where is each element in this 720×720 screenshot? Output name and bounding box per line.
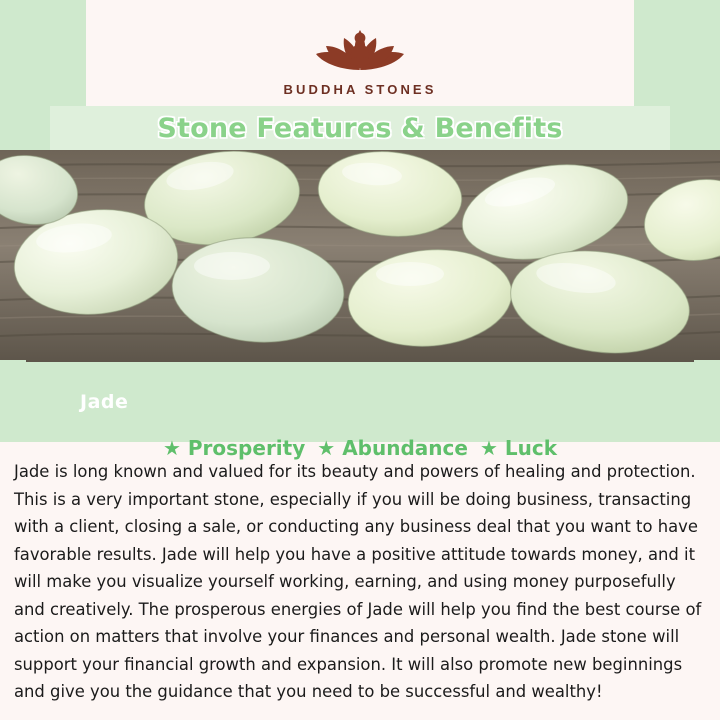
brand-header: BUDDHA STONES: [0, 0, 720, 112]
keyword-label: Abundance: [342, 436, 468, 460]
keyword-abundance: ★ Abundance: [317, 436, 468, 460]
star-icon: ★: [163, 438, 181, 458]
star-icon: ★: [480, 438, 498, 458]
brand-name: BUDDHA STONES: [284, 82, 437, 97]
keyword-luck: ★ Luck: [480, 436, 557, 460]
stone-name-label: Jade: [80, 391, 128, 413]
keyword-label: Luck: [505, 436, 557, 460]
lotus-meditation-icon: [298, 16, 422, 80]
page-title: Stone Features & Benefits: [157, 113, 562, 144]
star-icon: ★: [317, 438, 335, 458]
keyword-prosperity: ★ Prosperity: [163, 436, 305, 460]
title-band: Stone Features & Benefits: [0, 106, 720, 150]
jade-tumbled-stones-photo: [0, 150, 720, 362]
title-band-bar: Stone Features & Benefits: [50, 106, 670, 150]
infographic-page: BUDDHA STONES Stone Features & Benefits: [0, 0, 720, 720]
keyword-label: Prosperity: [188, 436, 305, 460]
stone-description-text: Jade is long known and valued for its be…: [14, 458, 708, 706]
